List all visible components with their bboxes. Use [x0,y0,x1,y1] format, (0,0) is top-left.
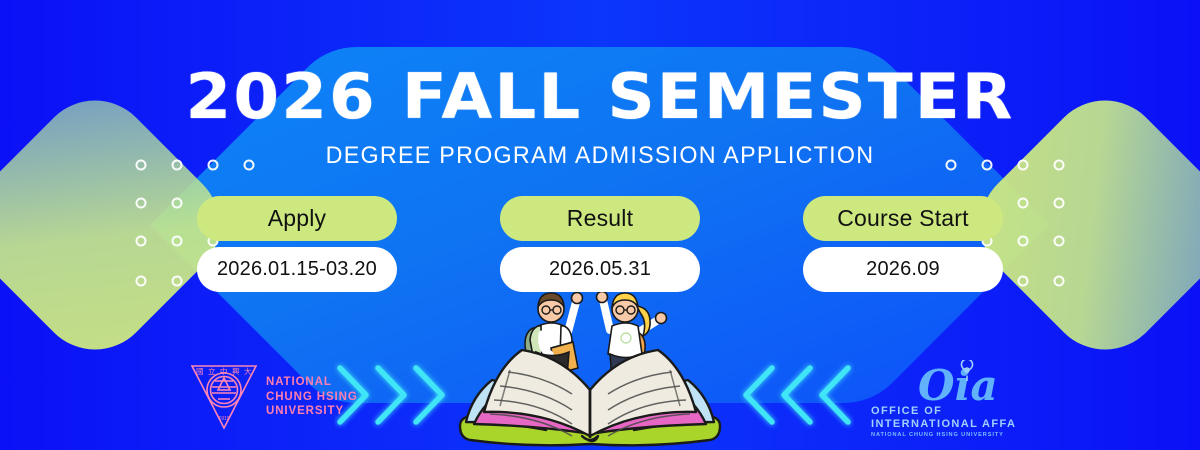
nchu-triangle-seal-icon: 國立 中興 大 1919 [188,360,260,434]
page-subtitle: DEGREE PROGRAM ADMISSION APPLICTION [18,142,1182,170]
svg-text:國: 國 [196,367,204,376]
timeline-card-result: Result 2026.05.31 [500,196,700,292]
timeline-cards: Apply 2026.01.15-03.20 Result 2026.05.31… [0,196,1200,292]
result-label: Result [500,196,700,241]
oia-wordmark: Oia [918,361,998,410]
oia-line-1: OFFICE OF [871,405,942,417]
timeline-card-apply: Apply 2026.01.15-03.20 [197,196,397,292]
course-start-label: Course Start [803,196,1003,241]
course-start-date: 2026.09 [803,247,1003,292]
result-date: 2026.05.31 [500,247,700,292]
svg-text:1919: 1919 [218,416,229,422]
apply-date: 2026.01.15-03.20 [197,247,397,292]
nchu-line-3: UNIVERSITY [266,404,358,419]
svg-text:大: 大 [244,366,252,376]
svg-text:興: 興 [232,366,240,376]
nchu-line-1: NATIONAL [266,375,358,390]
title-block: 2026 FALL SEMESTER DEGREE PROGRAM ADMISS… [0,66,1200,170]
timeline-card-course-start: Course Start 2026.09 [803,196,1003,292]
apply-label: Apply [197,196,397,241]
svg-text:中: 中 [220,366,228,376]
students-on-open-book-icon [450,276,740,450]
chevron-left-group-icon [734,358,854,432]
oia-line-2: INTERNATIONAL AFFAIRS [871,418,1016,430]
page-title: 2026 FALL SEMESTER [0,66,1200,128]
oia-logo: Oia OFFICE OF INTERNATIONAL AFFAIRS NATI… [866,360,1016,440]
nchu-line-2: CHUNG HSING [266,390,358,405]
oia-line-3: NATIONAL CHUNG HSING UNIVERSITY [871,432,1004,438]
nchu-wordmark: NATIONAL CHUNG HSING UNIVERSITY [266,375,358,419]
admission-banner: 2026 FALL SEMESTER DEGREE PROGRAM ADMISS… [0,0,1200,450]
nchu-logo: 國立 中興 大 1919 NATIONAL CHUNG HSING UNIVER… [188,360,358,434]
svg-text:立: 立 [208,366,216,376]
